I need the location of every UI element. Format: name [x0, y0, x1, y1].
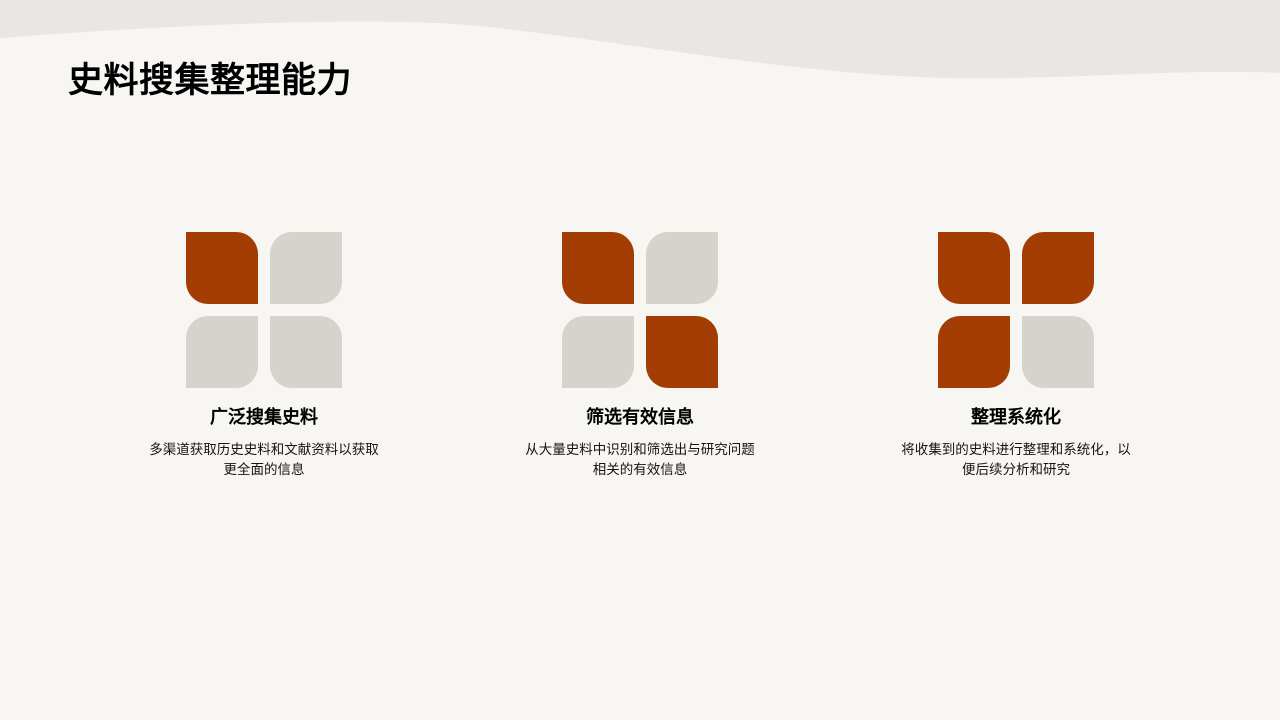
tile-top-right	[1022, 232, 1094, 304]
tile-top-right	[270, 232, 342, 304]
four-tile-grid-icon-two-accent	[562, 232, 718, 388]
card-title: 筛选有效信息	[586, 406, 694, 429]
tile-top-left	[938, 232, 1010, 304]
card-description: 从大量史料中识别和筛选出与研究问题相关的有效信息	[525, 440, 755, 480]
tile-bottom-right	[270, 316, 342, 388]
four-tile-grid-icon-one-accent	[186, 232, 342, 388]
tile-bottom-left	[562, 316, 634, 388]
tile-bottom-right	[1022, 316, 1094, 388]
feature-columns: 广泛搜集史料 多渠道获取历史史料和文献资料以获取更全面的信息 筛选有效信息 从大…	[88, 232, 1192, 480]
tile-top-right	[646, 232, 718, 304]
tile-top-left	[562, 232, 634, 304]
card-title: 广泛搜集史料	[210, 406, 318, 429]
four-tile-grid-icon-three-accent	[938, 232, 1094, 388]
card-description: 将收集到的史料进行整理和系统化，以便后续分析和研究	[901, 440, 1131, 480]
feature-card-2[interactable]: 筛选有效信息 从大量史料中识别和筛选出与研究问题相关的有效信息	[464, 232, 816, 480]
tile-top-left	[186, 232, 258, 304]
tile-bottom-left	[938, 316, 1010, 388]
card-title: 整理系统化	[971, 406, 1061, 429]
card-description: 多渠道获取历史史料和文献资料以获取更全面的信息	[149, 440, 379, 480]
feature-card-1[interactable]: 广泛搜集史料 多渠道获取历史史料和文献资料以获取更全面的信息	[88, 232, 440, 480]
tile-bottom-right	[646, 316, 718, 388]
slide-canvas: 史料搜集整理能力 广泛搜集史料 多渠道获取历史史料和文献资料以获取更全面的信息 …	[0, 0, 1280, 720]
feature-card-3[interactable]: 整理系统化 将收集到的史料进行整理和系统化，以便后续分析和研究	[840, 232, 1192, 480]
page-title: 史料搜集整理能力	[68, 59, 352, 103]
tile-bottom-left	[186, 316, 258, 388]
